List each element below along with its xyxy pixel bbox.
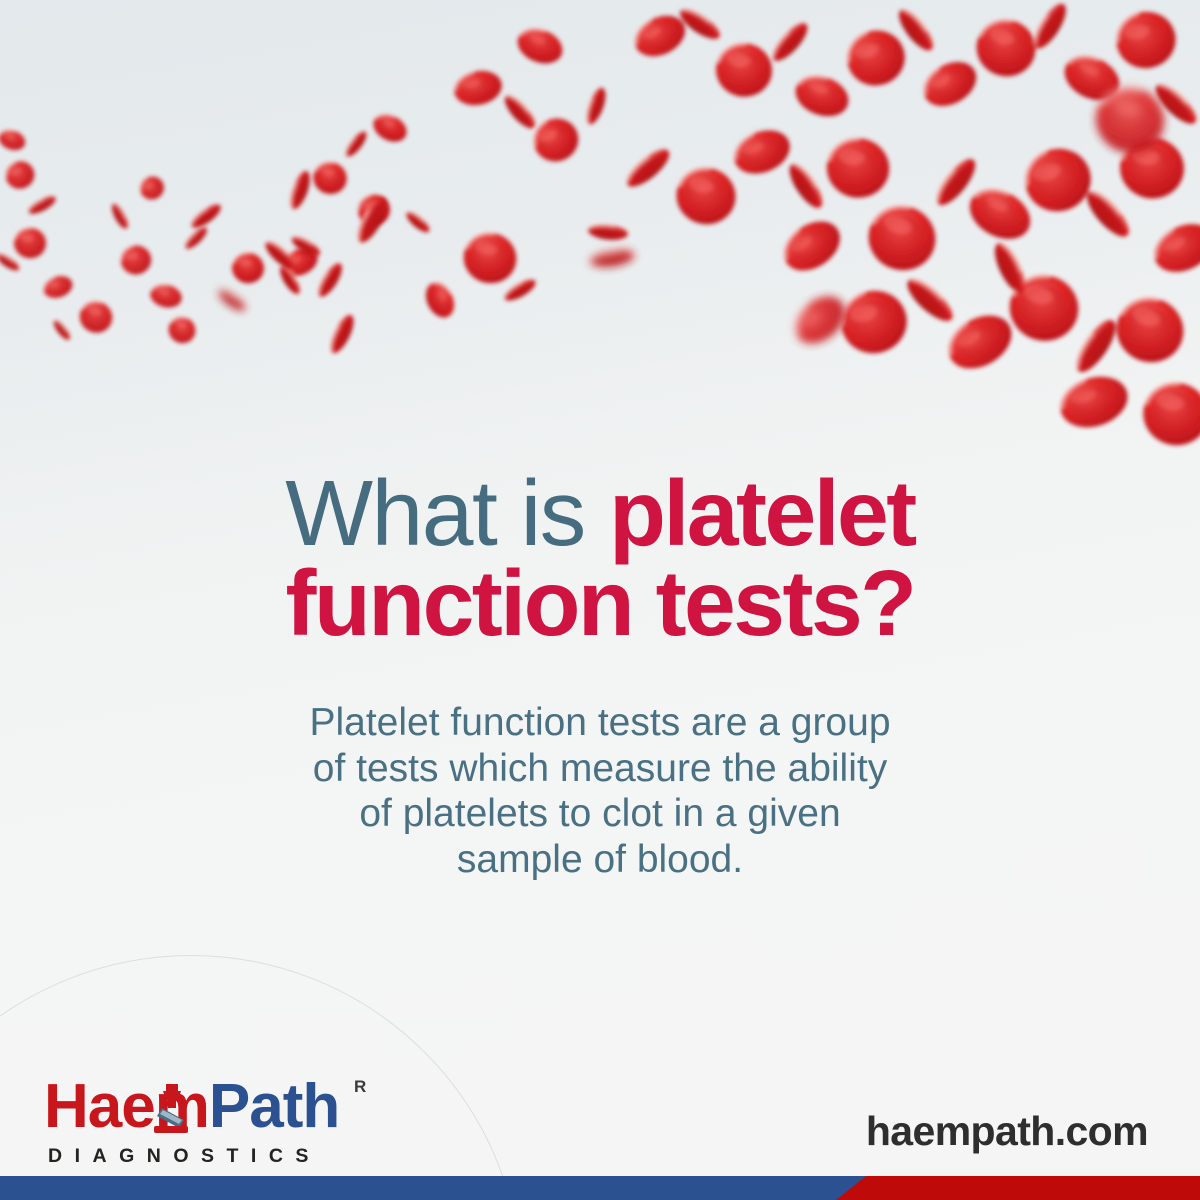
red-blood-cells-image [0,0,1200,470]
headline-light-text: What is [285,461,609,565]
bottom-bar-left-segment [0,1176,866,1200]
description-line-4: sample of blood. [230,837,970,883]
poster-canvas: What is platelet function tests? Platele… [0,0,1200,1200]
description-line-2: of tests which measure the ability [230,746,970,792]
headline-bold-text-2: function tests? [286,551,915,655]
blood-cells-svg [0,0,1200,470]
description-text: Platelet function tests are a group of t… [230,700,970,883]
headline-bold-text-1: platelet [609,461,915,565]
description-line-1: Platelet function tests are a group [230,700,970,746]
page-title: What is platelet function tests? [0,468,1200,648]
website-url[interactable]: haempath.com [866,1108,1148,1155]
description-line-3: of platelets to clot in a given [230,791,970,837]
bottom-accent-bar [0,1176,1200,1200]
bottom-bar-shape [0,1176,1200,1200]
logo-tagline: DIAGNOSTICS [48,1145,384,1168]
brand-logo[interactable]: HaemPath R DIAGNOSTICS [44,1076,384,1168]
logo-text-path: Path [209,1072,339,1141]
registered-trademark-icon: R [354,1078,365,1095]
microscope-icon [146,1080,198,1138]
logo-wordmark: HaemPath R [44,1076,384,1140]
headline-line-2: function tests? [0,558,1200,648]
headline-line-1: What is platelet [0,468,1200,558]
